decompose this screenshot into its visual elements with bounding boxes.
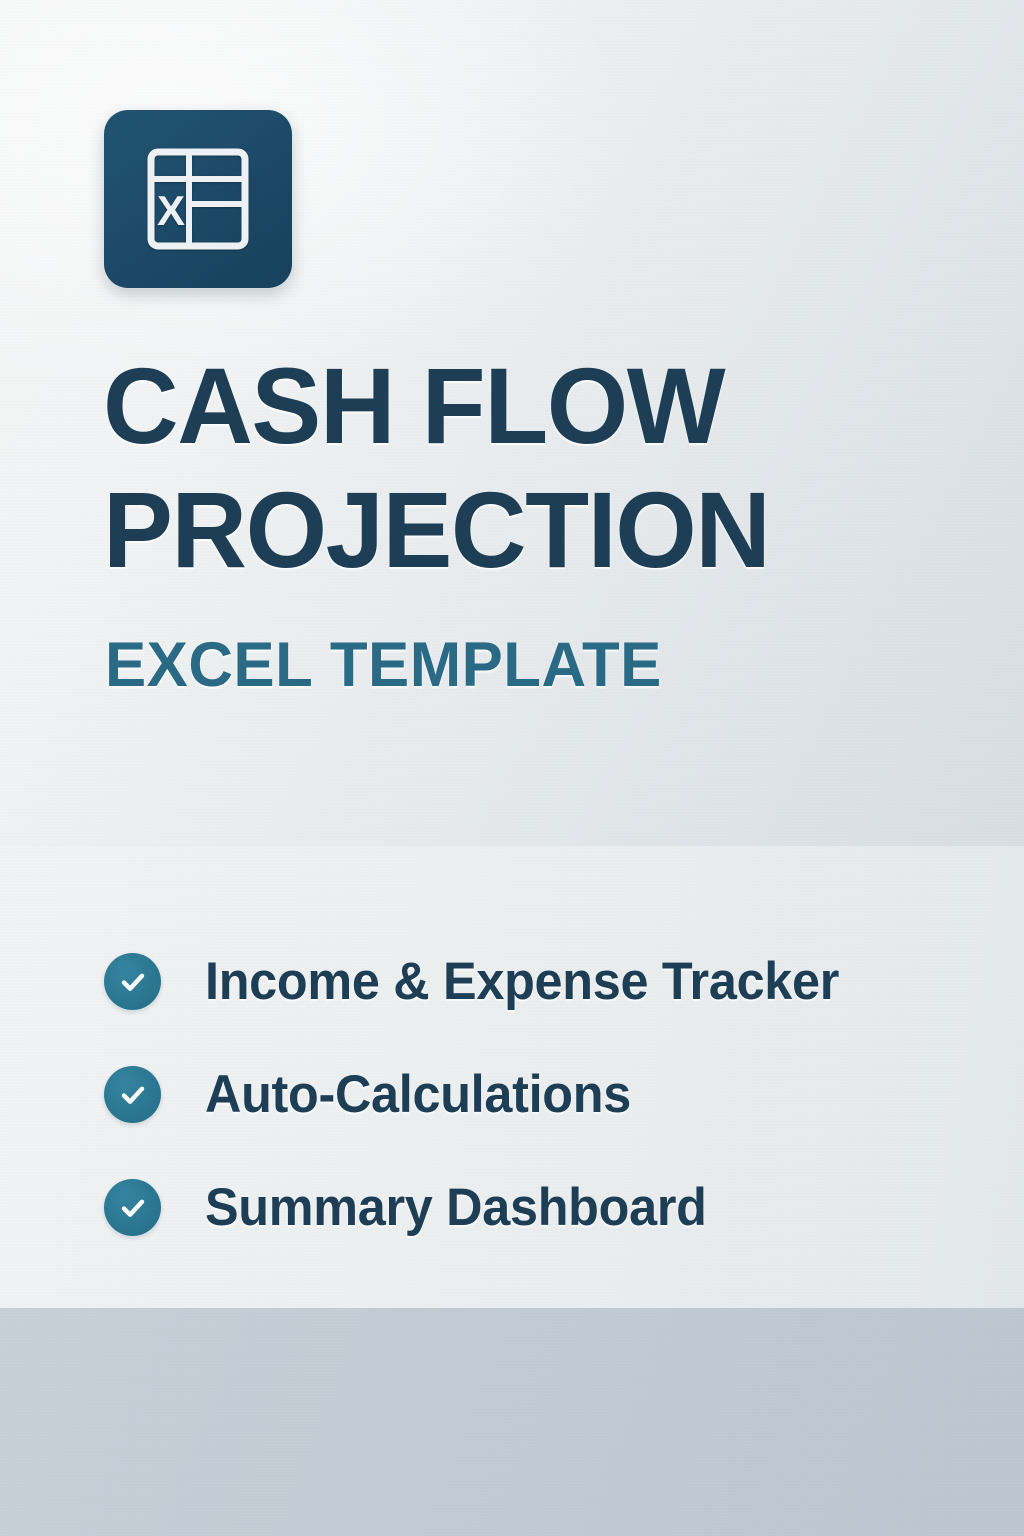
check-circle-icon bbox=[104, 1066, 161, 1123]
excel-spreadsheet-icon: X bbox=[104, 110, 292, 288]
page-title-line-1: CASH FLOW bbox=[103, 344, 918, 468]
page-subtitle: EXCEL TEMPLATE bbox=[105, 627, 662, 703]
page-title-line-2: PROJECTION bbox=[103, 468, 918, 592]
poster-canvas: X CASH FLOW PROJECTION EXCEL TEMPLATE In… bbox=[0, 0, 1024, 1536]
check-circle-icon bbox=[104, 953, 161, 1010]
check-circle-icon bbox=[104, 1179, 161, 1236]
excel-x-letter: X bbox=[157, 187, 185, 234]
list-item: Income & Expense Tracker bbox=[104, 925, 964, 1038]
feature-label: Income & Expense Tracker bbox=[205, 953, 839, 1011]
feature-list: Income & Expense Tracker Auto-Calculatio… bbox=[104, 925, 964, 1264]
list-item: Summary Dashboard bbox=[104, 1151, 964, 1264]
feature-label: Auto-Calculations bbox=[205, 1066, 631, 1124]
background-band-bottom bbox=[0, 1308, 1024, 1536]
feature-label: Summary Dashboard bbox=[205, 1179, 707, 1237]
page-title: CASH FLOW PROJECTION bbox=[103, 344, 943, 592]
list-item: Auto-Calculations bbox=[104, 1038, 964, 1151]
